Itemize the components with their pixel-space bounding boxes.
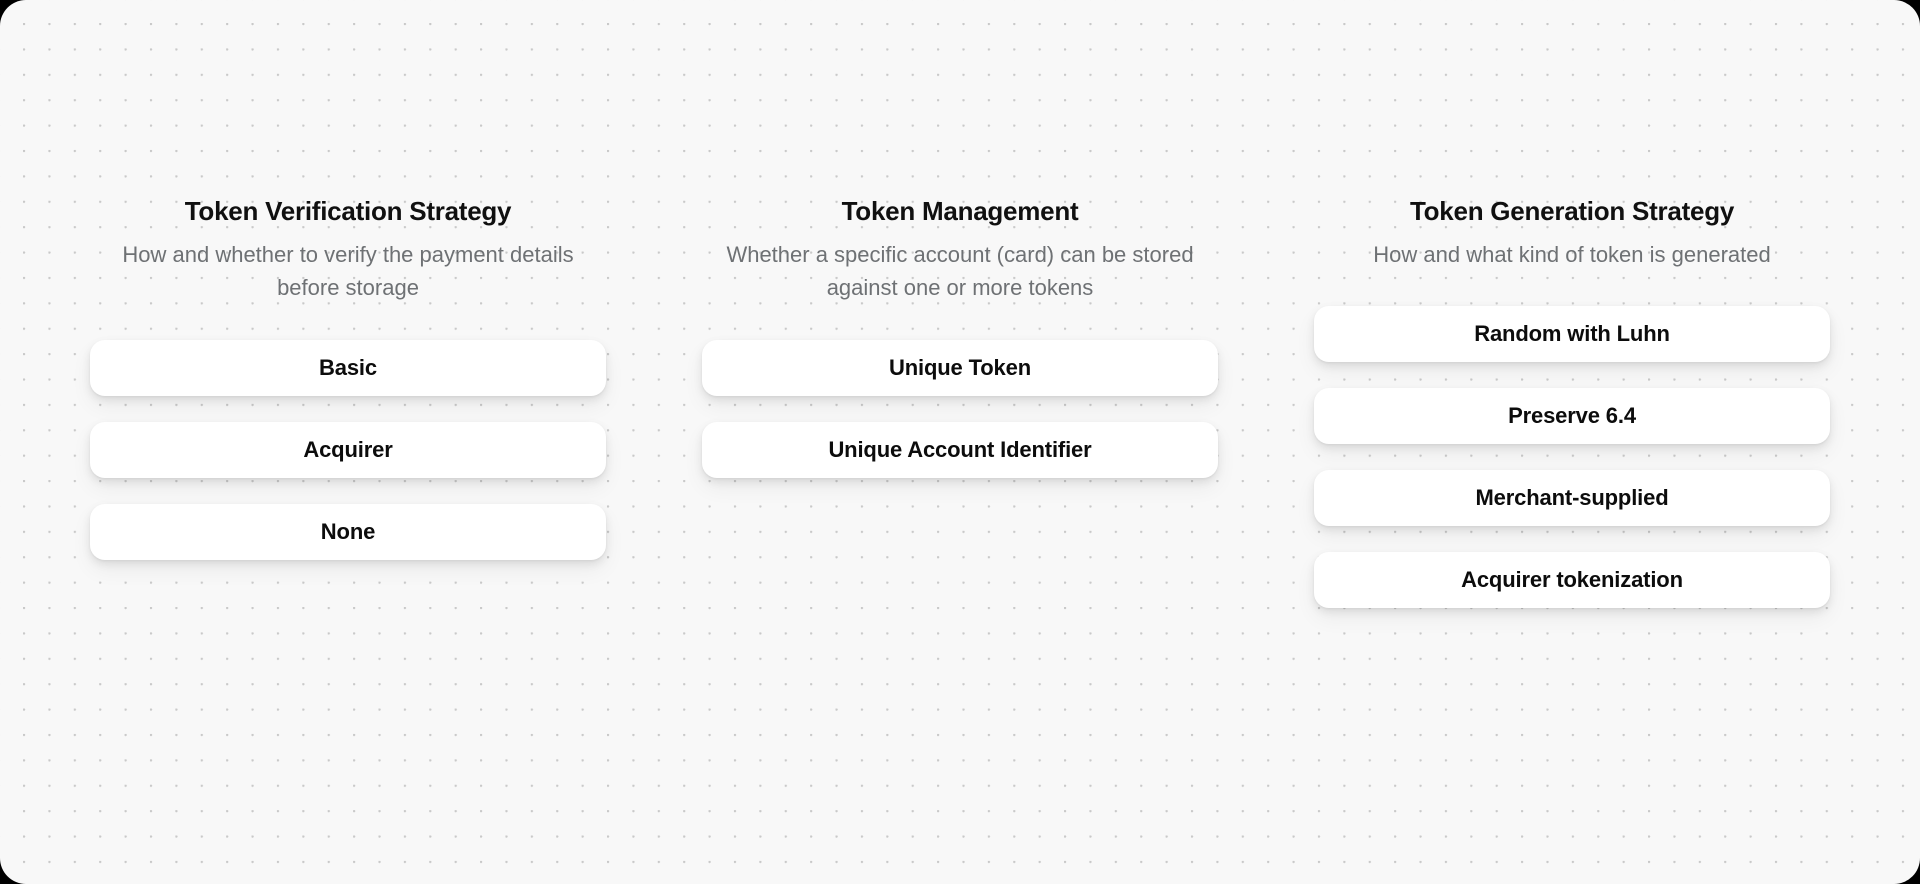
option-card[interactable]: Preserve 6.4 bbox=[1314, 388, 1830, 444]
option-card[interactable]: Basic bbox=[90, 340, 606, 396]
column-subtitle: How and whether to verify the payment de… bbox=[98, 238, 598, 305]
option-card-label: Acquirer tokenization bbox=[1447, 569, 1697, 591]
option-list: Unique TokenUnique Account Identifier bbox=[702, 340, 1218, 478]
column-token-management: Token ManagementWhether a specific accou… bbox=[702, 196, 1218, 478]
column-header: Token Generation StrategyHow and what ki… bbox=[1314, 196, 1830, 271]
column-title: Token Generation Strategy bbox=[1322, 196, 1822, 227]
option-card-label: Preserve 6.4 bbox=[1494, 405, 1650, 427]
column-header: Token Verification StrategyHow and wheth… bbox=[90, 196, 606, 305]
option-card-label: Merchant-supplied bbox=[1461, 487, 1682, 509]
option-card-label: None bbox=[307, 521, 389, 543]
option-card-label: Random with Luhn bbox=[1460, 323, 1684, 345]
columns-container: Token Verification StrategyHow and wheth… bbox=[0, 0, 1920, 884]
option-list: Random with LuhnPreserve 6.4Merchant-sup… bbox=[1314, 306, 1830, 608]
option-card-label: Unique Account Identifier bbox=[814, 439, 1105, 461]
option-card[interactable]: Acquirer tokenization bbox=[1314, 552, 1830, 608]
option-card-label: Unique Token bbox=[875, 357, 1045, 379]
option-card[interactable]: Acquirer bbox=[90, 422, 606, 478]
option-card[interactable]: Unique Account Identifier bbox=[702, 422, 1218, 478]
option-list: BasicAcquirerNone bbox=[90, 340, 606, 560]
option-card[interactable]: Unique Token bbox=[702, 340, 1218, 396]
column-token-verification-strategy: Token Verification StrategyHow and wheth… bbox=[90, 196, 606, 560]
option-card-label: Acquirer bbox=[289, 439, 406, 461]
option-card-label: Basic bbox=[305, 357, 391, 379]
column-header: Token ManagementWhether a specific accou… bbox=[702, 196, 1218, 305]
option-card[interactable]: None bbox=[90, 504, 606, 560]
column-title: Token Verification Strategy bbox=[98, 196, 598, 227]
option-card[interactable]: Merchant-supplied bbox=[1314, 470, 1830, 526]
diagram-canvas: Token Verification StrategyHow and wheth… bbox=[0, 0, 1920, 884]
column-token-generation-strategy: Token Generation StrategyHow and what ki… bbox=[1314, 196, 1830, 608]
column-title: Token Management bbox=[710, 196, 1210, 227]
option-card[interactable]: Random with Luhn bbox=[1314, 306, 1830, 362]
column-subtitle: Whether a specific account (card) can be… bbox=[710, 238, 1210, 305]
column-subtitle: How and what kind of token is generated bbox=[1322, 238, 1822, 271]
